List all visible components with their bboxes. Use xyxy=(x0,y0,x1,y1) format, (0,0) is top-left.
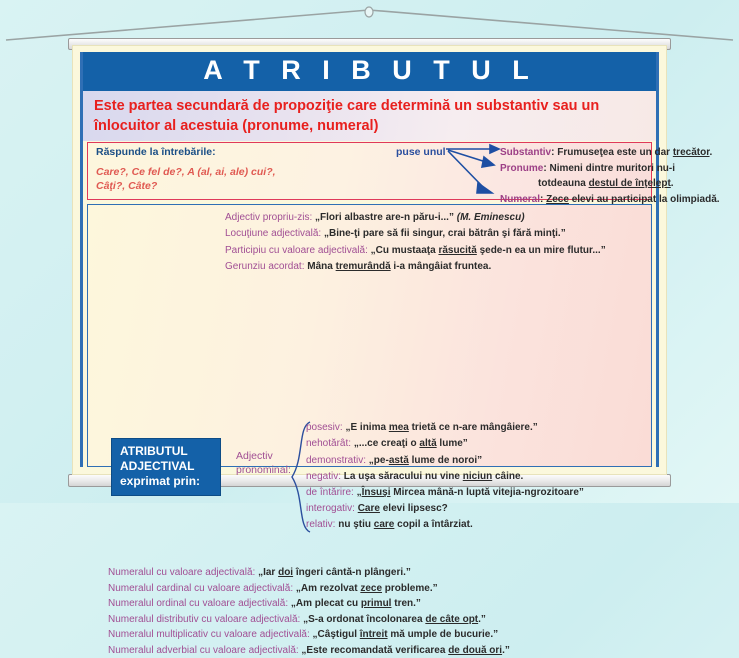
poster-inner-frame: A T R I B U T U L Este partea secundară … xyxy=(80,52,659,467)
form-example: „Bine-ţi pare să fii singur, crai bătrân… xyxy=(321,228,566,239)
line2-underline: destul de înţelept xyxy=(589,178,671,189)
numeral-label: Numeralul ordinal cu valoare adjectivală… xyxy=(108,598,288,609)
form-example-underline: răsucită xyxy=(438,245,476,256)
target-substantiv: Substantiv: Frumuseţea este un dar trecă… xyxy=(500,145,739,161)
item-pre: La uşa săracului nu vine xyxy=(341,471,463,482)
item-label: de întărire: xyxy=(306,487,354,498)
numeral-label: Numeralul cardinal cu valoare adjectival… xyxy=(108,583,293,594)
form-example-underline: tremurândă xyxy=(336,261,391,272)
item-post: copil a întârziat. xyxy=(394,519,472,530)
form-example-pre: „Cu mustaaţa xyxy=(368,245,439,256)
pronominal-item: relativ: nu ştiu care copil a întârziat. xyxy=(306,517,706,533)
numeral-item: Numeralul cardinal cu valoare adjectival… xyxy=(108,581,648,597)
item-label: posesiv: xyxy=(306,422,343,433)
numeral-post: îngeri cântă-n plângeri.” xyxy=(293,567,411,578)
numeral-item: Numeralul multiplicativ cu valoare adjec… xyxy=(108,627,648,643)
question-item: Care?, Ce fel de?, A (al, ai, ale) cui?, xyxy=(96,166,311,180)
item-pre: „...ce creaţi o xyxy=(351,438,419,449)
item-post: Mircea mână-n luptă vitejia-ngrozitoare” xyxy=(391,487,584,498)
numeral-underline: întreit xyxy=(360,629,388,640)
form-label: Participiu cu valoare adjectivală: xyxy=(225,245,368,256)
adjective-form-row: Adjectiv propriu-zis: „Flori albastre ar… xyxy=(225,210,675,226)
question-items: Care?, Ce fel de?, A (al, ai, ale) cui?,… xyxy=(96,166,311,193)
numeral-post: tren.” xyxy=(391,598,420,609)
item-underline: niciun xyxy=(463,471,492,482)
numeral-item: Numeralul adverbial cu valoare adjectiva… xyxy=(108,643,648,658)
form-example-post: i-a mângâiat fruntea. xyxy=(391,261,492,272)
target-example-pre: Nimeni dintre muritori nu-i xyxy=(547,163,675,174)
item-underline: astă xyxy=(389,455,409,466)
form-label: Adjectiv propriu-zis: xyxy=(225,212,312,223)
pronominal-label: Adjectiv pronominal: xyxy=(236,450,291,477)
numeral-pre: „Am plecat cu xyxy=(288,598,361,609)
pronominal-item: demonstrativ: „pe-astă lume de noroi” xyxy=(306,453,706,469)
numeral-post: probleme.” xyxy=(382,583,438,594)
numeral-pre: „Este recomandată verificarea xyxy=(299,645,449,656)
item-underline: Însuşi xyxy=(362,487,391,498)
pronominal-label-line2: pronominal: xyxy=(236,464,291,478)
target-example-post: elevi au participat la olimpiadă. xyxy=(569,194,720,205)
question-heading: Răspunde la întrebările: xyxy=(96,146,311,158)
pronominal-item: negativ: La uşa săracului nu vine niciun… xyxy=(306,469,706,485)
line2-post: . xyxy=(671,178,674,189)
target-example-underline: Zece xyxy=(546,194,569,205)
item-underline: mea xyxy=(389,422,409,433)
numeral-underline: zece xyxy=(360,583,382,594)
target-pronume: Pronume: Nimeni dintre muritori nu-i tot… xyxy=(500,161,739,192)
numeral-post: .” xyxy=(502,645,510,656)
form-example-post: şede-n ea un mire flutur...” xyxy=(477,245,606,256)
target-example-pre: Frumuseţea este un dar xyxy=(554,147,672,158)
target-label: Substantiv xyxy=(500,147,551,158)
item-pre: „pe- xyxy=(366,455,389,466)
item-label: negativ: xyxy=(306,471,341,482)
item-post: câine. xyxy=(492,471,523,482)
attribute-callout-box: ATRIBUTUL ADJECTIVAL exprimat prin: xyxy=(111,438,221,496)
adjective-form-row: Locuţiune adjectivală: „Bine-ţi pare să … xyxy=(225,226,675,242)
form-label: Gerunziu acordat: xyxy=(225,261,305,272)
numeral-underline: primul xyxy=(361,598,392,609)
form-attribution: (M. Eminescu) xyxy=(454,212,525,223)
page-title: A T R I B U T U L xyxy=(83,52,656,91)
numeral-label: Numeralul adverbial cu valoare adjectiva… xyxy=(108,645,299,656)
poster-subtitle: Este partea secundară de propoziţie care… xyxy=(83,91,656,141)
numeral-pre: „Iar xyxy=(255,567,278,578)
pronominal-item: de întărire: „Însuşi Mircea mână-n luptă… xyxy=(306,485,706,501)
item-post: trietă ce n-are mângâiere.” xyxy=(409,422,538,433)
question-targets: Substantiv: Frumuseţea este un dar trecă… xyxy=(500,145,739,207)
pronominal-item: posesiv: „E inima mea trietă ce n-are mâ… xyxy=(306,420,706,436)
callout-line-1: ATRIBUTUL xyxy=(120,444,214,459)
item-pre: nu ştiu xyxy=(335,519,373,530)
target-example-underline: trecător xyxy=(673,147,710,158)
connector-label: puse unul xyxy=(396,146,446,158)
numeral-post: mă umple de bucurie.” xyxy=(388,629,499,640)
item-pre: „E inima xyxy=(343,422,389,433)
numeral-label: Numeralul cu valoare adjectivală: xyxy=(108,567,255,578)
item-label: interogativ: xyxy=(306,503,355,514)
item-underline: Care xyxy=(358,503,380,514)
target-label: Numeral xyxy=(500,194,540,205)
adjective-forms-list: Adjectiv propriu-zis: „Flori albastre ar… xyxy=(225,210,675,275)
numeral-underline: doi xyxy=(278,567,293,578)
pronominal-item: nehotărât: „...ce creaţi o altă lume” xyxy=(306,436,706,452)
poster-sheet: A T R I B U T U L Este partea secundară … xyxy=(72,45,667,475)
callout-line-3: exprimat prin: xyxy=(120,474,214,489)
numeral-item: Numeralul ordinal cu valoare adjectivală… xyxy=(108,596,648,612)
numeral-pre: „Am rezolvat xyxy=(293,583,360,594)
target-label: Pronume xyxy=(500,163,543,174)
numeral-item: Numeralul cu valoare adjectivală: „Iar d… xyxy=(108,565,648,581)
line2-pre: totdeauna xyxy=(538,178,589,189)
hanger-cord xyxy=(0,0,739,42)
item-underline: care xyxy=(374,519,395,530)
adjective-form-row: Participiu cu valoare adjectivală: „Cu m… xyxy=(225,243,675,259)
numerals-list: Numeralul cu valoare adjectivală: „Iar d… xyxy=(108,565,648,658)
form-example-pre: Mâna xyxy=(305,261,336,272)
target-example-line2: totdeauna destul de înţelept. xyxy=(500,176,739,192)
target-example-post: . xyxy=(710,147,713,158)
question-left-column: Răspunde la întrebările: Care?, Ce fel d… xyxy=(96,146,311,193)
numeral-post: .” xyxy=(478,614,486,625)
item-label: demonstrativ: xyxy=(306,455,366,466)
callout-line-2: ADJECTIVAL xyxy=(120,459,214,474)
numeral-underline: de câte opt xyxy=(425,614,478,625)
question-box: Răspunde la întrebările: Care?, Ce fel d… xyxy=(87,142,652,200)
numeral-label: Numeralul multiplicativ cu valoare adjec… xyxy=(108,629,310,640)
item-post: elevi lipsesc? xyxy=(380,503,448,514)
pronominal-items-list: posesiv: „E inima mea trietă ce n-are mâ… xyxy=(306,420,706,533)
numeral-pre: „Câştigul xyxy=(310,629,360,640)
pronominal-label-line1: Adjectiv xyxy=(236,450,291,464)
form-example: „Flori albastre are-n păru-i...” xyxy=(312,212,454,223)
question-item: Câţi?, Câte? xyxy=(96,180,311,194)
numeral-underline: de două ori xyxy=(448,645,502,656)
form-label: Locuţiune adjectivală: xyxy=(225,228,321,239)
item-post: lume” xyxy=(437,438,468,449)
item-label: relativ: xyxy=(306,519,335,530)
item-pre: „ xyxy=(354,487,362,498)
adjective-form-row: Gerunziu acordat: Mâna tremurândă i-a mâ… xyxy=(225,259,675,275)
pronominal-item: interogativ: Care elevi lipsesc? xyxy=(306,501,706,517)
main-content-box: Adjectiv propriu-zis: „Flori albastre ar… xyxy=(87,204,652,467)
item-label: nehotărât: xyxy=(306,438,351,449)
item-underline: altă xyxy=(419,438,436,449)
numeral-item: Numeralul distributiv cu valoare adjecti… xyxy=(108,612,648,628)
numeral-label: Numeralul distributiv cu valoare adjecti… xyxy=(108,614,300,625)
item-post: lume de noroi” xyxy=(409,455,482,466)
numeral-pre: „S-a ordonat încolonarea xyxy=(300,614,425,625)
